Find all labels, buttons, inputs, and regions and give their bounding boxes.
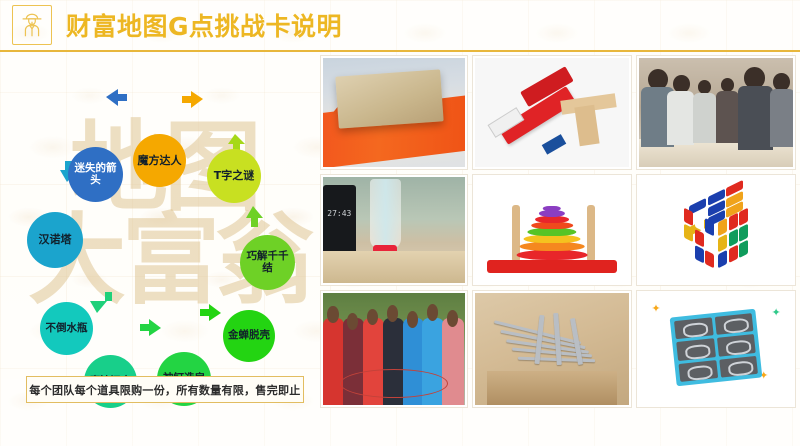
flow-node-label: 汉诺塔 <box>35 234 76 246</box>
photo-orange-paper-puzzle[interactable] <box>320 55 468 170</box>
page-title: 财富地图G点挑战卡说明 <box>66 7 342 43</box>
purchase-limit-text: 每个团队每个道具限购一份，所有数量有限，售完即止 <box>29 382 300 398</box>
challenge-photo-grid: 27:43 <box>320 55 796 410</box>
flow-node-label: 不倒水瓶 <box>42 323 92 334</box>
flow-node-label: 魔方达人 <box>134 155 186 167</box>
photo-metal-wire-puzzles[interactable]: ✦ ✦ ✦ <box>636 290 796 408</box>
flow-node-t-puzzle[interactable]: T字之谜 <box>207 149 261 203</box>
photo-team-table-activity[interactable] <box>636 55 796 170</box>
photo-t-puzzle-pieces[interactable] <box>472 55 632 170</box>
flow-node-rubik-master[interactable]: 魔方达人 <box>133 134 186 187</box>
photo-team-knot-circle[interactable] <box>320 290 468 408</box>
flow-node-label: 迷失的箭头 <box>68 163 123 186</box>
flow-node-untie-knot[interactable]: 巧解千千结 <box>240 235 295 290</box>
photo-water-bottle-balance[interactable]: 27:43 <box>320 174 468 286</box>
flow-node-label: 金蝉脱壳 <box>224 330 274 341</box>
rich-man-avatar-icon <box>12 5 52 45</box>
flow-node-cicada-shell[interactable]: 金蝉脱壳 <box>223 310 275 362</box>
flow-node-lost-arrow[interactable]: 迷失的箭头 <box>68 147 123 202</box>
flow-node-label: 巧解千千结 <box>240 251 295 274</box>
flow-node-hanoi-tower[interactable]: 汉诺塔 <box>27 212 83 268</box>
flow-node-label: T字之谜 <box>210 170 259 182</box>
photo-rubiks-cube[interactable] <box>636 174 796 286</box>
purchase-limit-note: 每个团队每个道具限购一份，所有数量有限，售完即止 <box>26 376 304 403</box>
page-header: 财富地图G点挑战卡说明 <box>0 0 800 52</box>
flow-node-water-bottle[interactable]: 不倒水瓶 <box>40 302 93 355</box>
photo-tower-of-hanoi[interactable] <box>472 174 632 286</box>
photo-nail-balance-puzzle[interactable] <box>472 290 632 408</box>
